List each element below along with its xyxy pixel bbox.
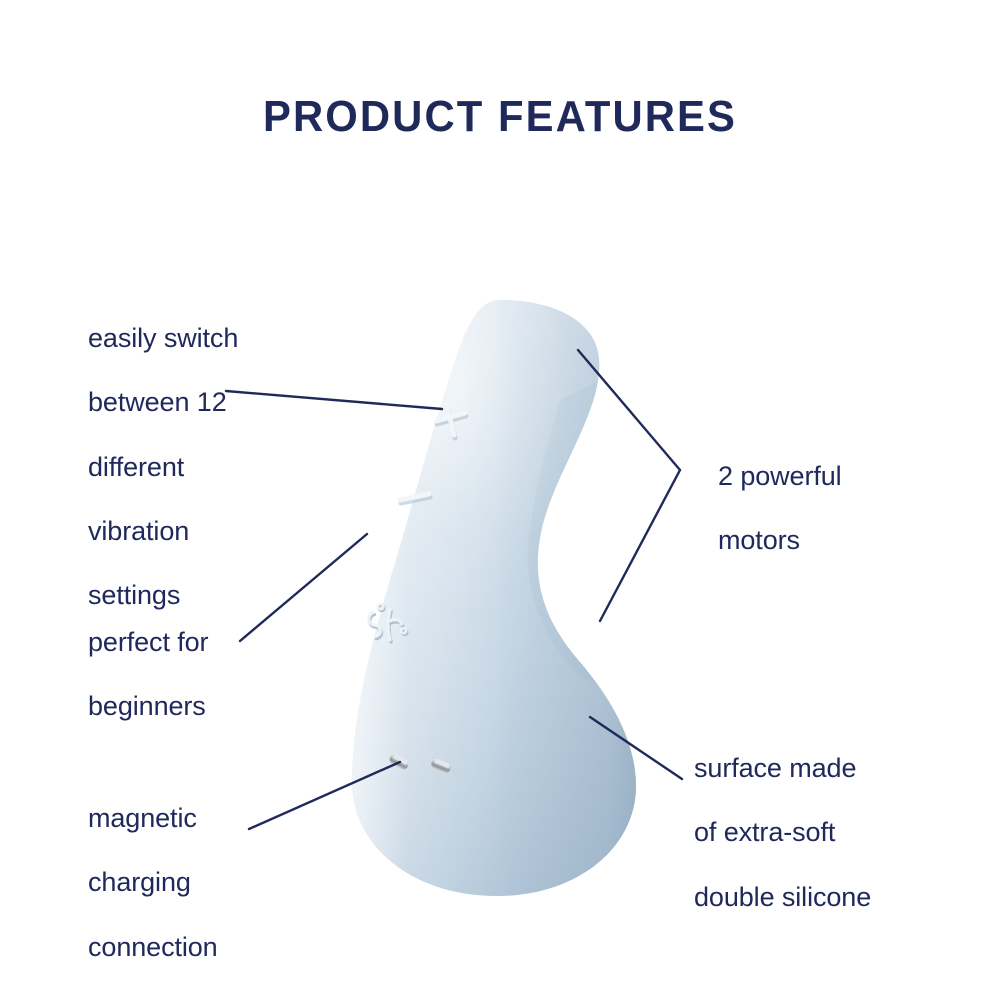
callout-line: magnetic <box>88 802 218 834</box>
callout-line: surface made <box>694 752 871 784</box>
product-features-infographic: PRODUCT FEATURES <box>0 0 1000 1000</box>
callout-line: perfect for <box>88 626 208 658</box>
leader-line-beginners <box>240 534 367 641</box>
callout-line: beginners <box>88 690 208 722</box>
callout-line: motors <box>718 524 842 556</box>
leader-line-vibration-settings <box>226 391 442 409</box>
callout-line: 2 powerful <box>718 460 842 492</box>
callout-line: double silicone <box>694 881 871 913</box>
callout-vibration-settings: easily switch between 12 different vibra… <box>88 290 238 643</box>
callout-line: between 12 <box>88 386 238 418</box>
callout-silicone: surface made of extra-soft double silico… <box>694 720 871 945</box>
callout-magnetic-charging: magnetic charging connection <box>88 770 218 995</box>
callout-line: easily switch <box>88 322 238 354</box>
callout-line: different <box>88 451 238 483</box>
product-body <box>340 260 650 910</box>
callout-line: vibration <box>88 515 238 547</box>
callout-line: of extra-soft <box>694 816 871 848</box>
callout-line: charging <box>88 866 218 898</box>
callout-motors: 2 powerful motors <box>718 428 842 589</box>
callout-beginners: perfect for beginners <box>88 594 208 755</box>
callout-line: connection <box>88 931 218 963</box>
